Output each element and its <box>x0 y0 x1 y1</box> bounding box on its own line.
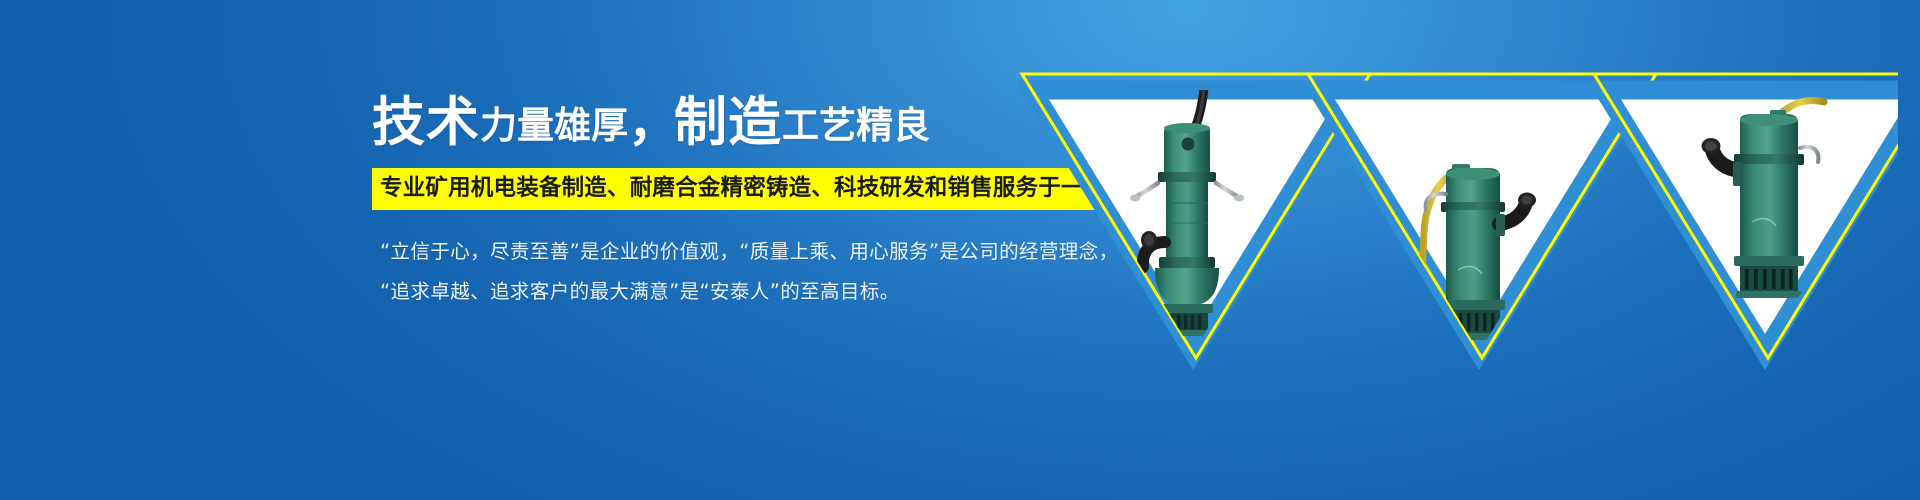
headline-segment-2: 力量雄厚 <box>480 104 628 147</box>
product-triangle-3 <box>1594 74 1898 358</box>
headline-segment-1: 技术 <box>372 92 480 153</box>
headline-comma: ， <box>628 94 674 152</box>
product-triangle-graphics <box>1018 52 1898 372</box>
product-triangle-1 <box>1022 74 1370 358</box>
promo-banner: 技术力量雄厚，制造工艺精良 专业矿用机电装备制造、耐磨合金精密铸造、科技研发和销… <box>0 0 1920 500</box>
headline-segment-4: 工艺精良 <box>782 104 930 147</box>
product-triangle-2 <box>1308 74 1656 358</box>
headline-segment-3: 制造 <box>674 92 782 153</box>
